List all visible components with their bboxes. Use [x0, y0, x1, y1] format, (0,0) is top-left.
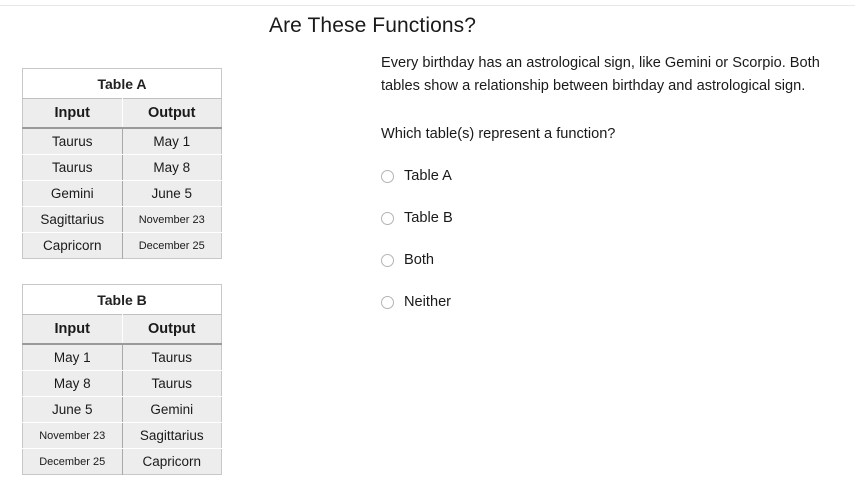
table-row: CapricornDecember 25 — [23, 233, 222, 259]
table-caption: Table B — [22, 284, 222, 314]
radio-button-icon[interactable] — [381, 254, 394, 267]
page-title: Are These Functions? — [0, 14, 745, 38]
cell-output: May 8 — [122, 155, 222, 181]
cell-input: Taurus — [23, 155, 123, 181]
cell-output: June 5 — [122, 181, 222, 207]
column-header-input: Input — [23, 315, 123, 345]
cell-output: Sagittarius — [122, 423, 222, 449]
table-header-row: InputOutput — [23, 99, 222, 129]
cell-input: Capricorn — [23, 233, 123, 259]
answer-option-label: Both — [404, 252, 434, 268]
cell-input: November 23 — [23, 423, 123, 449]
column-header-input: Input — [23, 99, 123, 129]
answer-option-neither[interactable]: Neither — [381, 291, 847, 313]
table-table-a: Table AInputOutputTaurusMay 1TaurusMay 8… — [22, 68, 222, 259]
table-row: May 8Taurus — [23, 371, 222, 397]
answer-option-label: Neither — [404, 294, 451, 310]
cell-input: May 8 — [23, 371, 123, 397]
tables-column: Table AInputOutputTaurusMay 1TaurusMay 8… — [22, 68, 224, 475]
cell-output: November 23 — [122, 207, 222, 233]
radio-button-icon[interactable] — [381, 212, 394, 225]
cell-output: Taurus — [122, 371, 222, 397]
table-row: TaurusMay 8 — [23, 155, 222, 181]
table-caption: Table A — [22, 68, 222, 98]
table-row: TaurusMay 1 — [23, 128, 222, 155]
table-table-b: Table BInputOutputMay 1TaurusMay 8Taurus… — [22, 284, 222, 475]
top-divider — [0, 5, 855, 6]
cell-output: Gemini — [122, 397, 222, 423]
cell-input: Taurus — [23, 128, 123, 155]
cell-input: Gemini — [23, 181, 123, 207]
answer-option-label: Table B — [404, 210, 453, 226]
table-row: May 1Taurus — [23, 344, 222, 371]
answer-options-group: Table ATable BBothNeither — [381, 165, 847, 313]
cell-output: May 1 — [122, 128, 222, 155]
cell-output: Capricorn — [122, 449, 222, 475]
answer-option-both[interactable]: Both — [381, 249, 847, 271]
cell-input: June 5 — [23, 397, 123, 423]
cell-input: May 1 — [23, 344, 123, 371]
table-row: GeminiJune 5 — [23, 181, 222, 207]
table-row: November 23Sagittarius — [23, 423, 222, 449]
table-row: June 5Gemini — [23, 397, 222, 423]
column-header-output: Output — [122, 315, 222, 345]
cell-output: December 25 — [122, 233, 222, 259]
table-header-row: InputOutput — [23, 315, 222, 345]
cell-input: Sagittarius — [23, 207, 123, 233]
column-header-output: Output — [122, 99, 222, 129]
cell-output: Taurus — [122, 344, 222, 371]
answer-option-table-a[interactable]: Table A — [381, 165, 847, 187]
table-row: SagittariusNovember 23 — [23, 207, 222, 233]
intro-paragraph: Every birthday has an astrological sign,… — [381, 52, 847, 97]
answer-option-label: Table A — [404, 168, 452, 184]
table-row: December 25Capricorn — [23, 449, 222, 475]
question-prompt: Which table(s) represent a function? — [381, 123, 847, 145]
question-panel: Every birthday has an astrological sign,… — [381, 52, 847, 333]
radio-button-icon[interactable] — [381, 296, 394, 309]
answer-option-table-b[interactable]: Table B — [381, 207, 847, 229]
radio-button-icon[interactable] — [381, 170, 394, 183]
cell-input: December 25 — [23, 449, 123, 475]
